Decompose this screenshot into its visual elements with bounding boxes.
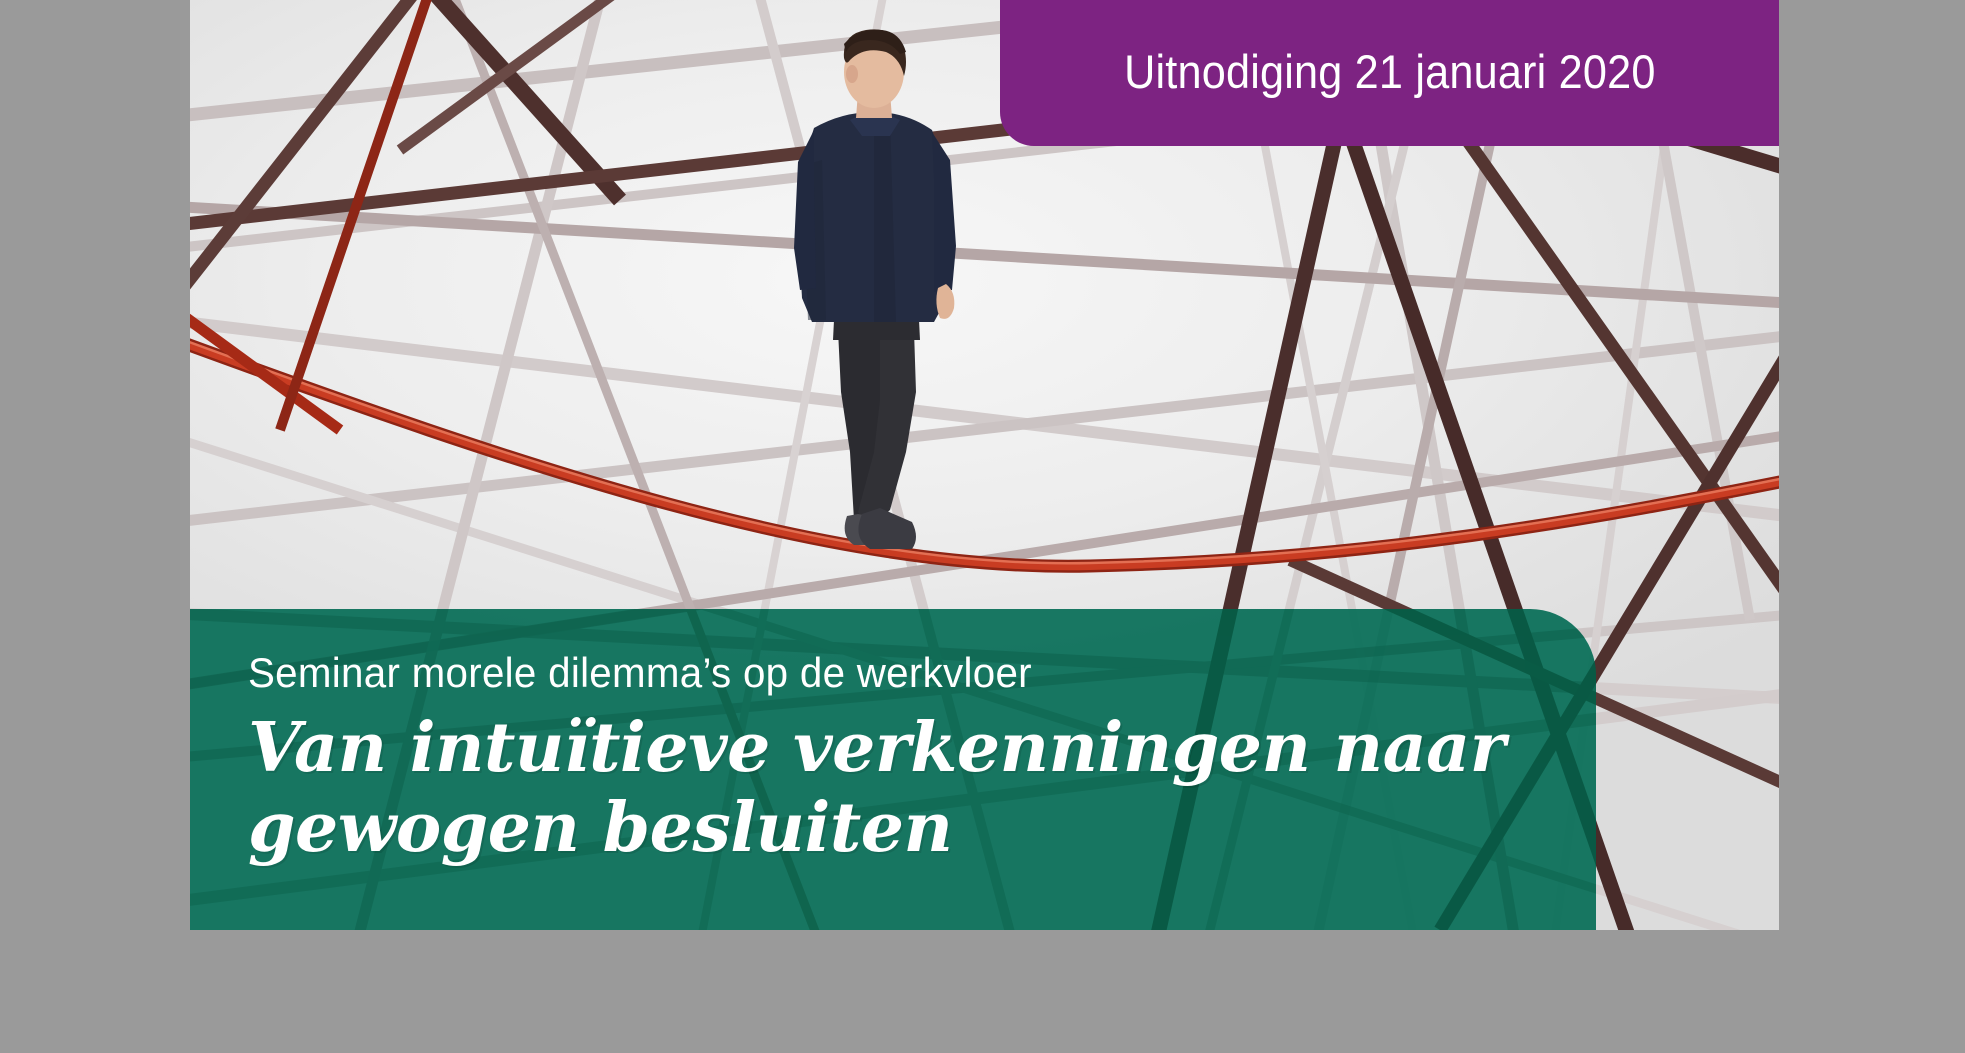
headline-line-2: gewogen besluiten bbox=[248, 789, 1596, 869]
invitation-flyer: Uitnodiging 21 januari 2020 bbox=[190, 0, 1779, 930]
poster-canvas: Uitnodiging 21 januari 2020 bbox=[0, 0, 1965, 1053]
title-banner-content: Seminar morele dilemma’s op de werkvloer… bbox=[190, 609, 1596, 930]
date-badge-text: Uitnodiging 21 januari 2020 bbox=[1124, 44, 1655, 99]
date-badge: Uitnodiging 21 januari 2020 bbox=[1000, 0, 1779, 146]
title-banner: Seminar morele dilemma’s op de werkvloer… bbox=[190, 609, 1596, 930]
headline: Van intuïtieve verkenningen naar gewogen… bbox=[248, 709, 1596, 868]
seminar-subtitle: Seminar morele dilemma’s op de werkvloer bbox=[248, 651, 1542, 695]
headline-line-1: Van intuïtieve verkenningen naar bbox=[248, 709, 1596, 789]
walker-body bbox=[794, 29, 956, 549]
